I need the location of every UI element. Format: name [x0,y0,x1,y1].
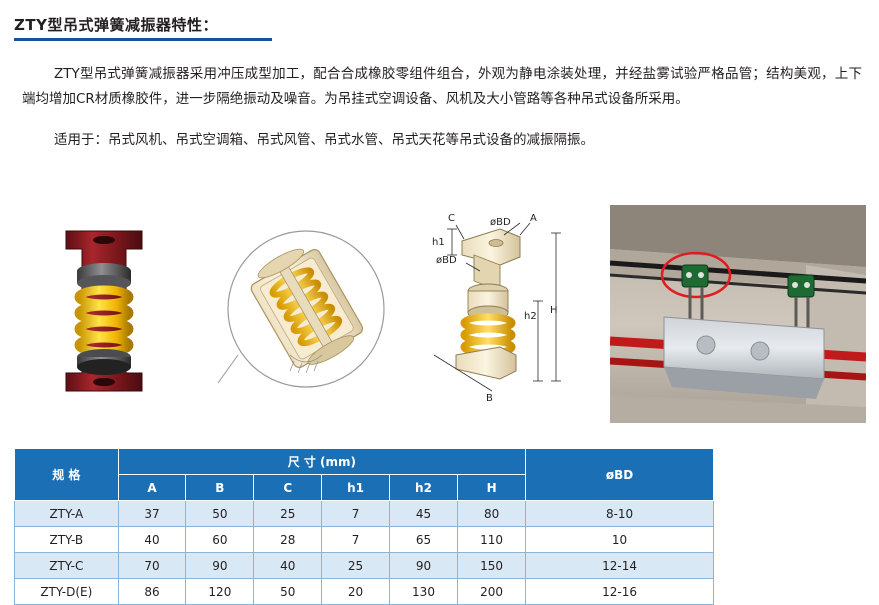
dimension-label-bd-top: øBD [490,217,511,228]
cell-h: 200 [458,579,526,605]
table-body: ZTY-A 37 50 25 7 45 80 8-10 ZTY-B 40 60 … [15,501,714,605]
cell-h: 80 [458,501,526,527]
table-row: ZTY-B 40 60 28 7 65 110 10 [15,527,714,553]
cell-spec: ZTY-B [15,527,119,553]
cell-h: 150 [458,553,526,579]
cell-spec: ZTY-C [15,553,119,579]
specification-table: 规 格 尺 寸 (mm) øBD A B C h1 h2 H ZTY-A 37 … [14,448,714,605]
cell-c: 40 [254,553,322,579]
cell-bd: 10 [526,527,714,553]
product-photo [14,205,210,423]
cell-h1: 25 [322,553,390,579]
page-title-bar: ZTY型吊式弹簧减振器特性： [14,14,272,41]
cell-c: 25 [254,501,322,527]
dimension-drawing: H h2 h1 B A C øBD øBD [408,205,604,423]
header-dimension-group: 尺 寸 (mm) [118,449,526,475]
header-spec: 规 格 [15,449,119,501]
header-h2: h2 [389,475,457,501]
cell-h2: 90 [389,553,457,579]
cell-b: 90 [186,553,254,579]
dimension-label-a: A [530,213,537,224]
dimension-label-h2: h2 [524,311,537,322]
installation-photo [610,205,866,423]
cell-h2: 45 [389,501,457,527]
header-a: A [118,475,186,501]
table-row: ZTY-C 70 90 40 25 90 150 12-14 [15,553,714,579]
cutaway-diagram [210,205,408,423]
dimension-label-h: H [550,305,558,316]
dimension-label-h1: h1 [432,237,445,248]
cell-b: 60 [186,527,254,553]
cell-b: 50 [186,501,254,527]
table-header-row-top: 规 格 尺 寸 (mm) øBD [15,449,714,475]
table-row: ZTY-A 37 50 25 7 45 80 8-10 [15,501,714,527]
cell-h: 110 [458,527,526,553]
description-paragraph-1: ZTY型吊式弹簧减振器采用冲压成型加工，配合合成橡胶零组件组合，外观为静电涂装处… [22,62,862,112]
figure-row: H h2 h1 B A C øBD øBD [14,205,866,423]
cell-spec: ZTY-D(E) [15,579,119,605]
cell-bd: 8-10 [526,501,714,527]
header-b: B [186,475,254,501]
cell-h1: 20 [322,579,390,605]
cell-c: 50 [254,579,322,605]
page-title: ZTY型吊式弹簧减振器特性： [14,16,218,34]
header-h1: h1 [322,475,390,501]
cell-b: 120 [186,579,254,605]
table-head: 规 格 尺 寸 (mm) øBD A B C h1 h2 H [15,449,714,501]
cell-bd: 12-16 [526,579,714,605]
header-h: H [458,475,526,501]
description-paragraph-2: 适用于：吊式风机、吊式空调箱、吊式风管、吊式水管、吊式天花等吊式设备的减振隔振。 [22,128,862,153]
cell-h1: 7 [322,501,390,527]
cell-h1: 7 [322,527,390,553]
cell-c: 28 [254,527,322,553]
dimension-label-c: C [448,213,455,224]
dimension-label-b: B [486,393,493,404]
cell-bd: 12-14 [526,553,714,579]
dimension-label-bd-side: øBD [436,255,457,266]
cell-a: 40 [118,527,186,553]
header-c: C [254,475,322,501]
cell-h2: 130 [389,579,457,605]
cell-a: 70 [118,553,186,579]
cell-h2: 65 [389,527,457,553]
header-bd: øBD [526,449,714,501]
table-row: ZTY-D(E) 86 120 50 20 130 200 12-16 [15,579,714,605]
cell-a: 86 [118,579,186,605]
cell-a: 37 [118,501,186,527]
cell-spec: ZTY-A [15,501,119,527]
